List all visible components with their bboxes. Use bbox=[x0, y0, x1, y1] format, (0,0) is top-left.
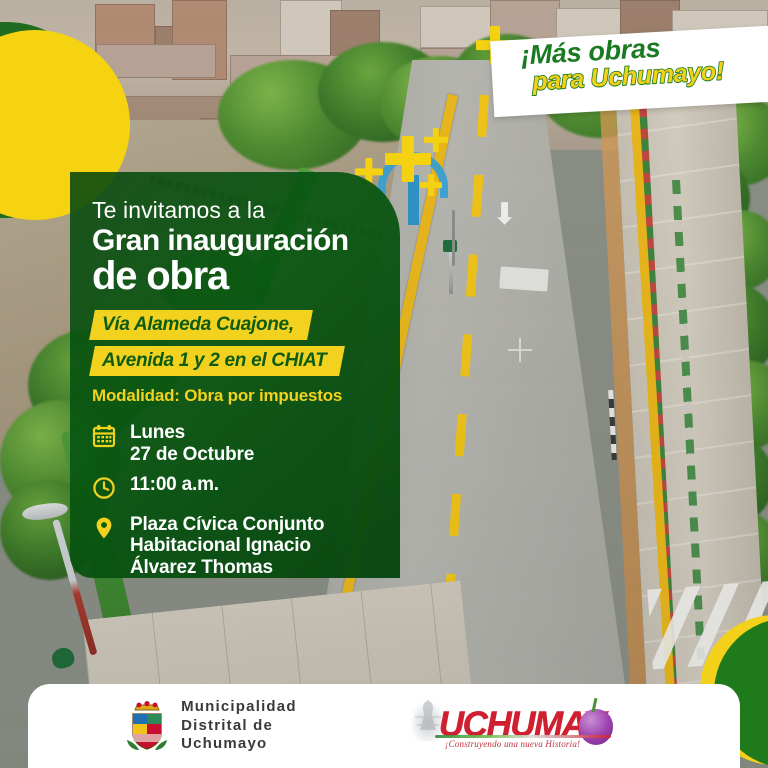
title-line-2: de obra bbox=[92, 256, 380, 297]
footer-bar: Municipalidad Distrital de Uchumayo UCHU… bbox=[28, 684, 740, 768]
modality-text: Modalidad: Obra por impuestos bbox=[92, 386, 380, 406]
decor-plus-icon bbox=[424, 128, 448, 152]
detail-row-place: Plaza Cívica Conjunto Habitacional Ignac… bbox=[92, 514, 380, 578]
poster-canvas: ⬇ ¡Más obras para Uchumayo! bbox=[0, 0, 768, 768]
municipality-line-2: Distrital de bbox=[181, 717, 297, 736]
venue-banner-1-label: Vía Alameda Cuajone, bbox=[102, 314, 294, 336]
calendar-icon bbox=[92, 422, 118, 453]
venue-banner-2-wrap: Avenida 1 y 2 en el CHIAT bbox=[92, 346, 380, 376]
detail-row-time: 11:00 a.m. bbox=[92, 474, 380, 505]
uchumayo-brand-logo: UCHUMAY ¡Construyendo una nueva Historia… bbox=[399, 695, 629, 757]
header-banner: ¡Más obras para Uchumayo! bbox=[504, 26, 768, 117]
municipality-line-3: Uchumayo bbox=[181, 735, 297, 754]
place-line-1: Plaza Cívica Conjunto bbox=[130, 514, 324, 535]
municipality-logo: Municipalidad Distrital de Uchumayo bbox=[125, 698, 297, 754]
time-value: 11:00 a.m. bbox=[130, 474, 219, 495]
uchumayo-tagline: ¡Construyendo una nueva Historia! bbox=[445, 739, 580, 749]
municipality-line-1: Municipalidad bbox=[181, 698, 297, 717]
venue-banner-2: Avenida 1 y 2 en el CHIAT bbox=[89, 346, 345, 376]
event-details: Lunes 27 de Octubre 11:00 a.m. bbox=[92, 422, 380, 577]
location-pin-icon bbox=[92, 514, 118, 545]
clock-icon bbox=[92, 474, 118, 505]
place-line-3: Álvarez Thomas bbox=[130, 557, 324, 578]
detail-date-text: Lunes 27 de Octubre bbox=[130, 422, 254, 465]
decor-plus-icon bbox=[420, 174, 442, 196]
place-line-2: Habitacional Ignacio bbox=[130, 535, 324, 556]
coat-of-arms-icon bbox=[125, 700, 169, 752]
onion-icon bbox=[579, 709, 613, 745]
municipality-name: Municipalidad Distrital de Uchumayo bbox=[181, 698, 297, 754]
brand-swoosh bbox=[435, 735, 611, 738]
title-line-1: Gran inauguración bbox=[92, 225, 380, 257]
venue-banner-2-label: Avenida 1 y 2 en el CHIAT bbox=[102, 350, 326, 372]
venue-banner-1: Vía Alameda Cuajone, bbox=[89, 310, 313, 340]
invite-lead-text: Te invitamos a la bbox=[92, 198, 380, 223]
detail-place-text: Plaza Cívica Conjunto Habitacional Ignac… bbox=[130, 514, 324, 578]
date-weekday: Lunes bbox=[130, 422, 254, 443]
invitation-card: Te invitamos a la Gran inauguración de o… bbox=[70, 172, 400, 578]
detail-time-text: 11:00 a.m. bbox=[130, 474, 219, 495]
detail-row-date: Lunes 27 de Octubre bbox=[92, 422, 380, 465]
venue-banner-1-wrap: Vía Alameda Cuajone, bbox=[92, 310, 380, 340]
date-day-month: 27 de Octubre bbox=[130, 444, 254, 465]
